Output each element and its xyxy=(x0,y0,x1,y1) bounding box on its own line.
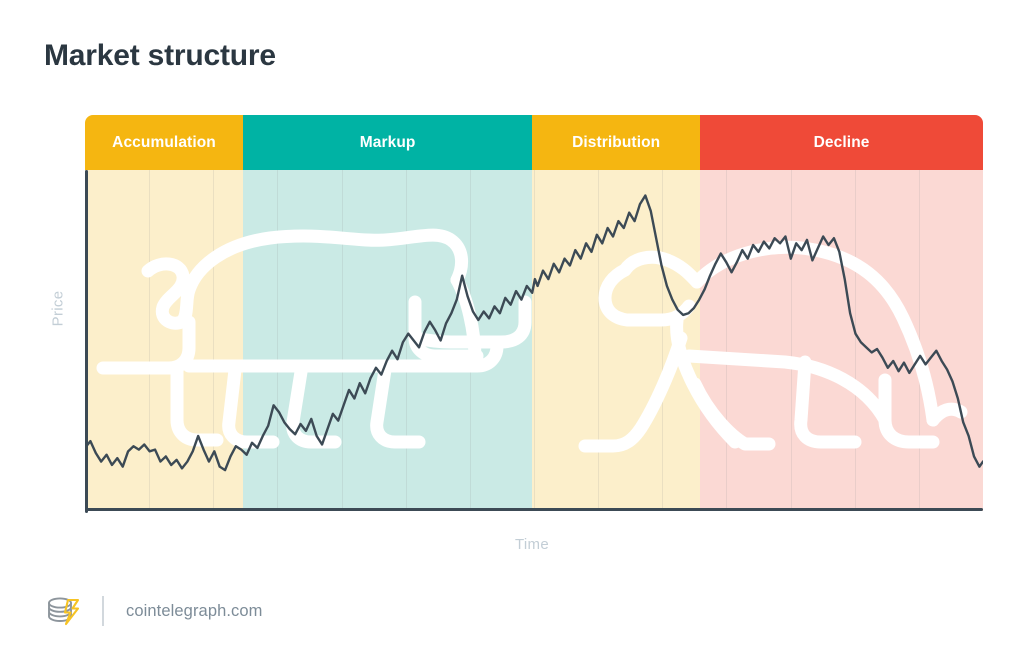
phase-tab-accumulation[interactable]: Accumulation xyxy=(85,115,243,170)
phase-tab-label: Accumulation xyxy=(112,134,216,152)
footer: cointelegraph.com xyxy=(44,590,263,632)
infographic-page: Market structure AccumulationMarkupDistr… xyxy=(0,0,1024,669)
phase-tab-label: Decline xyxy=(814,134,870,152)
plot-body xyxy=(85,170,983,511)
price-series xyxy=(85,170,983,511)
page-title: Market structure xyxy=(44,36,276,76)
market-structure-chart: AccumulationMarkupDistributionDecline xyxy=(85,115,983,511)
phase-tab-label: Markup xyxy=(360,134,416,152)
phase-tab-label: Distribution xyxy=(572,134,660,152)
phase-header-bands: AccumulationMarkupDistributionDecline xyxy=(85,115,983,170)
price-line xyxy=(85,196,983,471)
y-axis-line xyxy=(85,170,88,513)
phase-tab-decline[interactable]: Decline xyxy=(700,115,983,170)
phase-tab-distribution[interactable]: Distribution xyxy=(532,115,700,170)
y-axis-label: Price xyxy=(50,269,67,349)
footer-divider xyxy=(102,596,104,626)
cointelegraph-coins-bolt-icon xyxy=(44,594,84,628)
brand-name: cointelegraph.com xyxy=(126,602,263,621)
phase-tab-markup[interactable]: Markup xyxy=(243,115,532,170)
x-axis-label: Time xyxy=(0,536,1024,553)
x-axis-line xyxy=(85,508,983,511)
